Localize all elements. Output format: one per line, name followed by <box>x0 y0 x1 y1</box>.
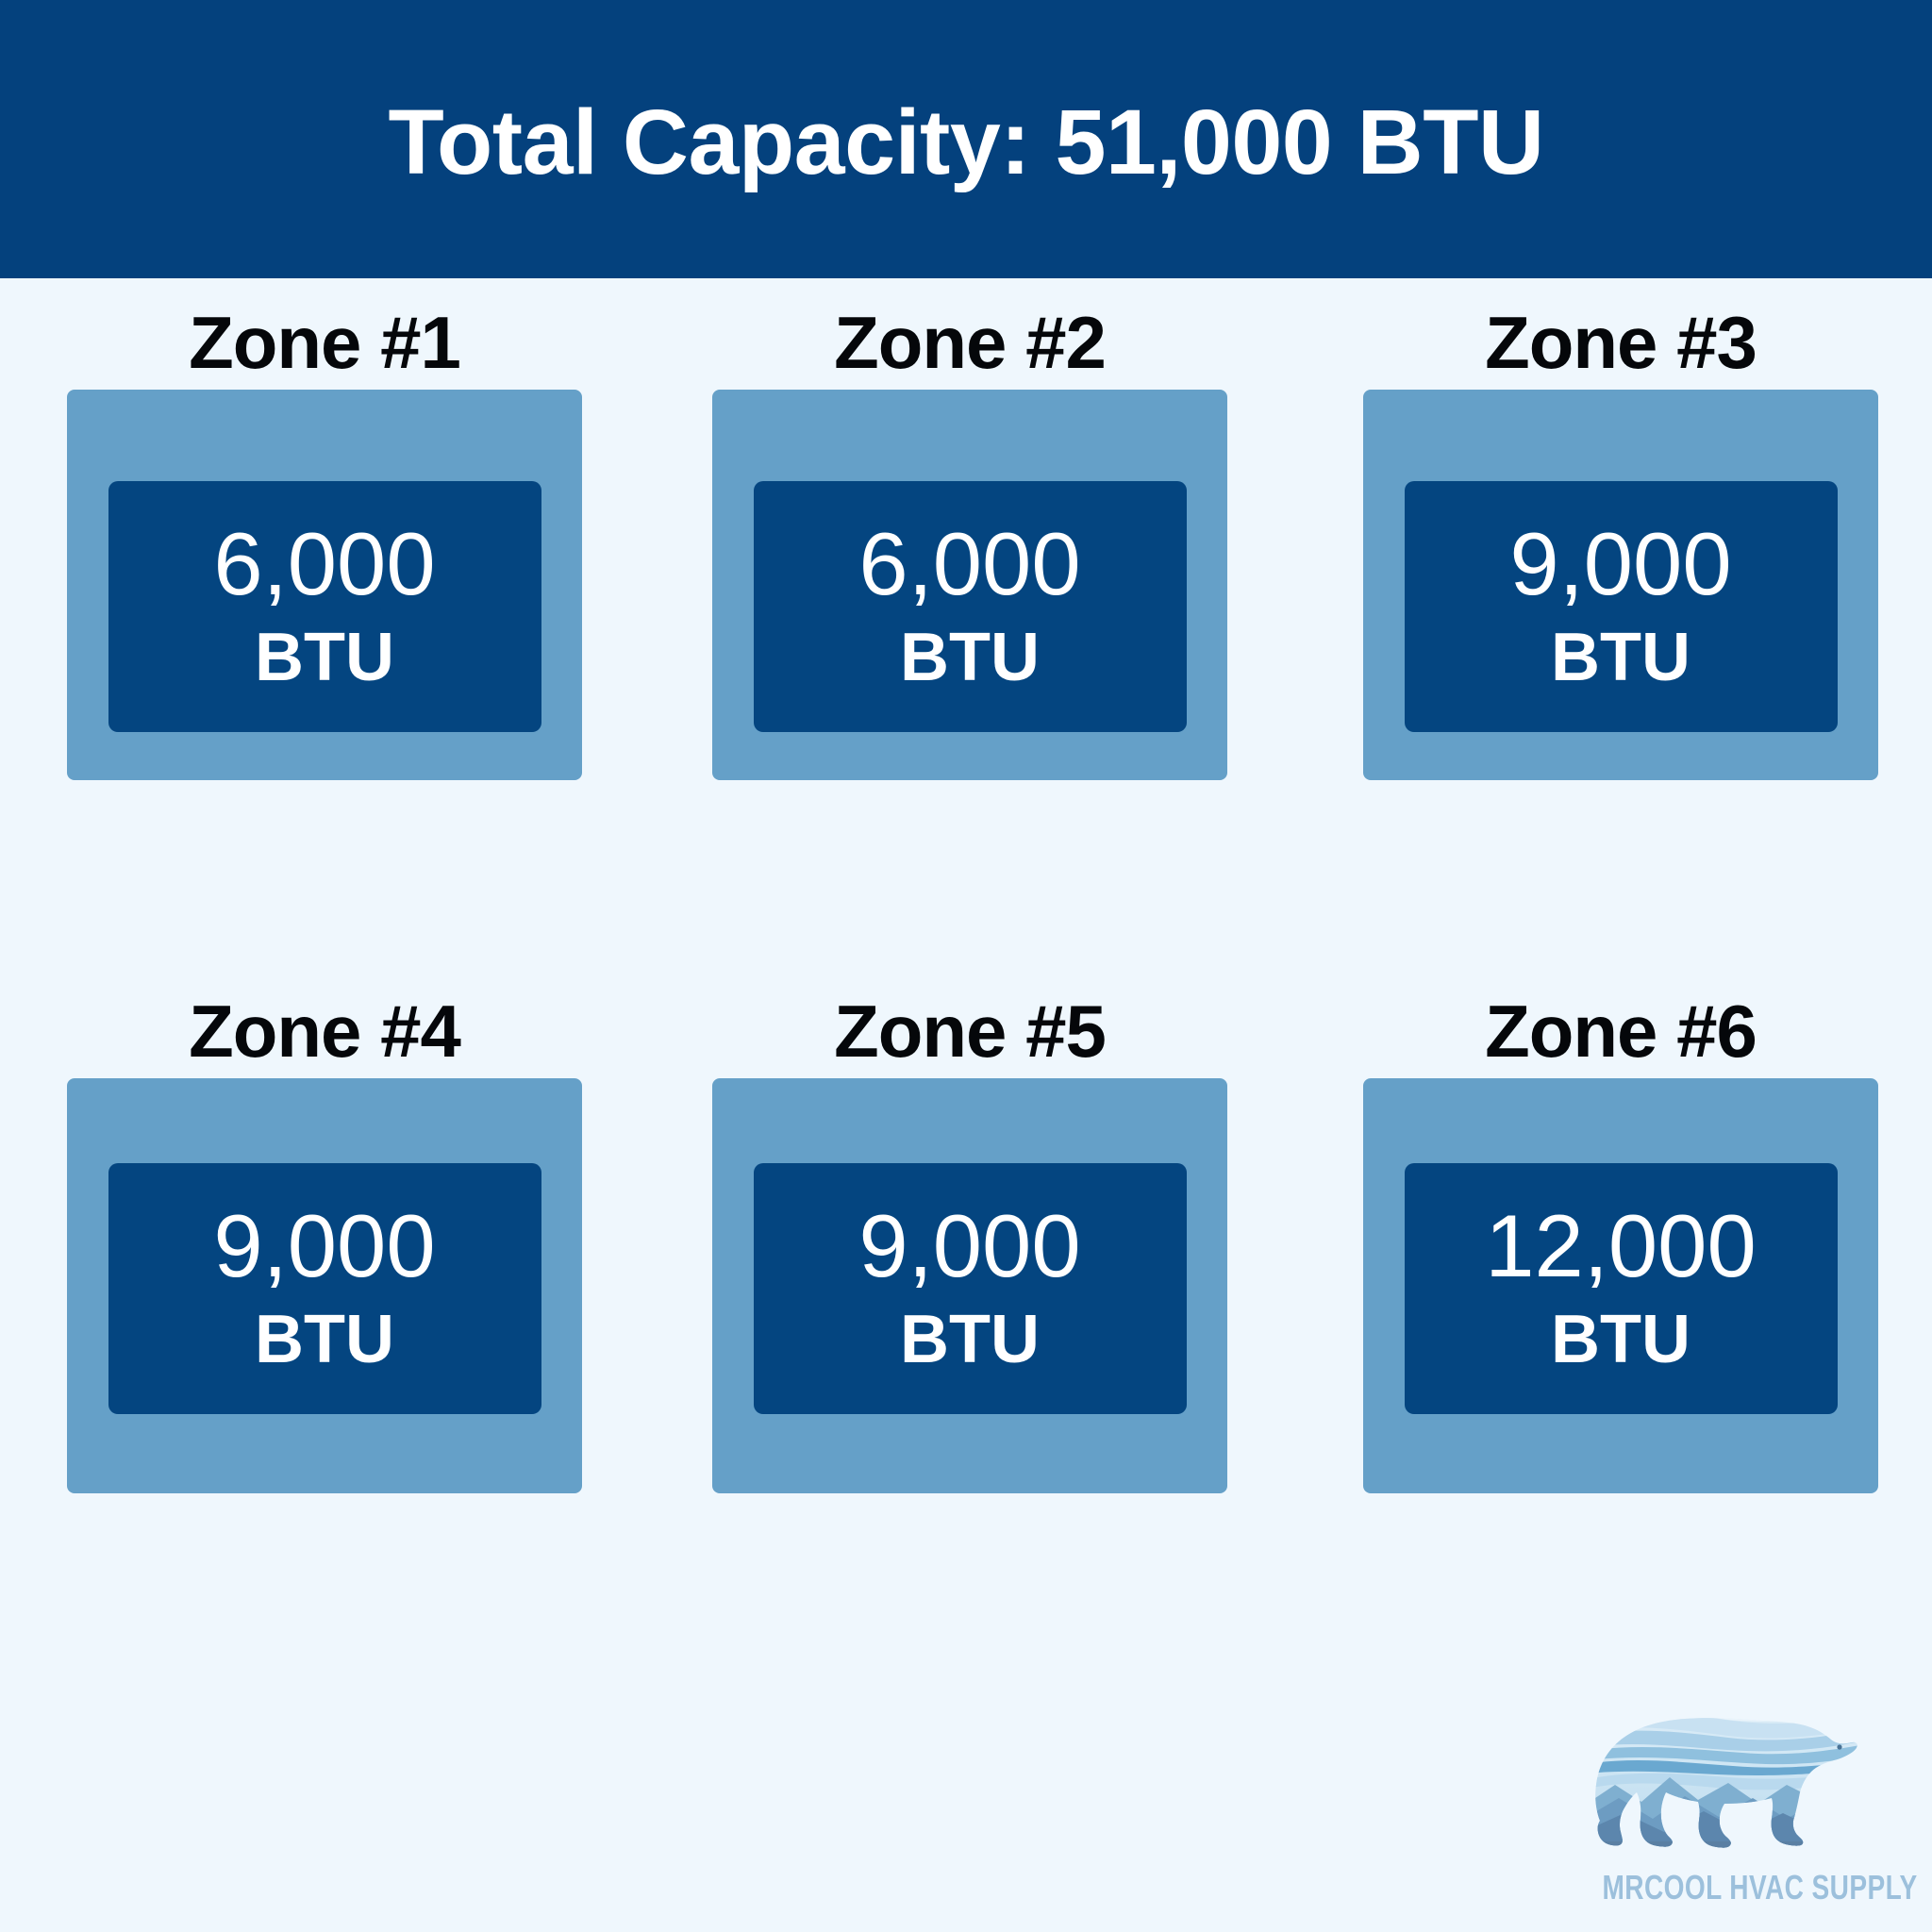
zone-item-1[interactable]: Zone #1 6,000 BTU <box>67 295 582 780</box>
zone-card-5[interactable]: 9,000 BTU <box>712 1078 1227 1493</box>
zone-card-1[interactable]: 6,000 BTU <box>67 390 582 780</box>
zone-btu-unit-5: BTU <box>900 1305 1040 1376</box>
zone-capacity-box-2: 6,000 BTU <box>754 481 1187 732</box>
zone-label-1: Zone #1 <box>67 295 582 390</box>
zone-label-4: Zone #4 <box>67 984 582 1078</box>
zone-label-6: Zone #6 <box>1363 984 1878 1078</box>
zone-item-3[interactable]: Zone #3 9,000 BTU <box>1363 295 1878 780</box>
brand-logo: MRCOOL HVAC SUPPLY <box>1566 1698 1896 1915</box>
zone-item-5[interactable]: Zone #5 9,000 BTU <box>712 984 1227 1493</box>
zone-item-6[interactable]: Zone #6 12,000 BTU <box>1363 984 1878 1493</box>
zone-btu-value-4: 9,000 <box>213 1201 435 1291</box>
zone-btu-unit-2: BTU <box>900 623 1040 694</box>
zone-capacity-box-1: 6,000 BTU <box>108 481 541 732</box>
zone-card-6[interactable]: 12,000 BTU <box>1363 1078 1878 1493</box>
zone-capacity-box-4: 9,000 BTU <box>108 1163 541 1414</box>
zone-btu-unit-4: BTU <box>255 1305 394 1376</box>
zone-item-2[interactable]: Zone #2 6,000 BTU <box>712 295 1227 780</box>
zone-label-5: Zone #5 <box>712 984 1227 1078</box>
zone-card-2[interactable]: 6,000 BTU <box>712 390 1227 780</box>
zone-btu-value-1: 6,000 <box>213 519 435 609</box>
zone-btu-value-2: 6,000 <box>858 519 1080 609</box>
bear-eye-icon <box>1837 1744 1841 1749</box>
zone-btu-unit-1: BTU <box>255 623 394 694</box>
zone-grid: Zone #1 6,000 BTU Zone #2 6,000 BTU Zone… <box>0 278 1932 1693</box>
zone-item-4[interactable]: Zone #4 9,000 BTU <box>67 984 582 1493</box>
polar-bear-icon <box>1587 1698 1860 1863</box>
zone-card-3[interactable]: 9,000 BTU <box>1363 390 1878 780</box>
zone-btu-unit-6: BTU <box>1551 1305 1690 1376</box>
zone-capacity-box-3: 9,000 BTU <box>1405 481 1838 732</box>
zone-btu-value-3: 9,000 <box>1509 519 1731 609</box>
brand-logo-text: MRCOOL HVAC SUPPLY <box>1603 1868 1860 1907</box>
zone-btu-value-5: 9,000 <box>858 1201 1080 1291</box>
zone-btu-unit-3: BTU <box>1551 623 1690 694</box>
zone-label-2: Zone #2 <box>712 295 1227 390</box>
page-title: Total Capacity: 51,000 BTU <box>388 96 1543 188</box>
zone-label-3: Zone #3 <box>1363 295 1878 390</box>
header-banner: Total Capacity: 51,000 BTU <box>0 0 1932 278</box>
zone-btu-value-6: 12,000 <box>1485 1201 1757 1291</box>
zone-capacity-box-5: 9,000 BTU <box>754 1163 1187 1414</box>
zone-card-4[interactable]: 9,000 BTU <box>67 1078 582 1493</box>
zone-capacity-box-6: 12,000 BTU <box>1405 1163 1838 1414</box>
